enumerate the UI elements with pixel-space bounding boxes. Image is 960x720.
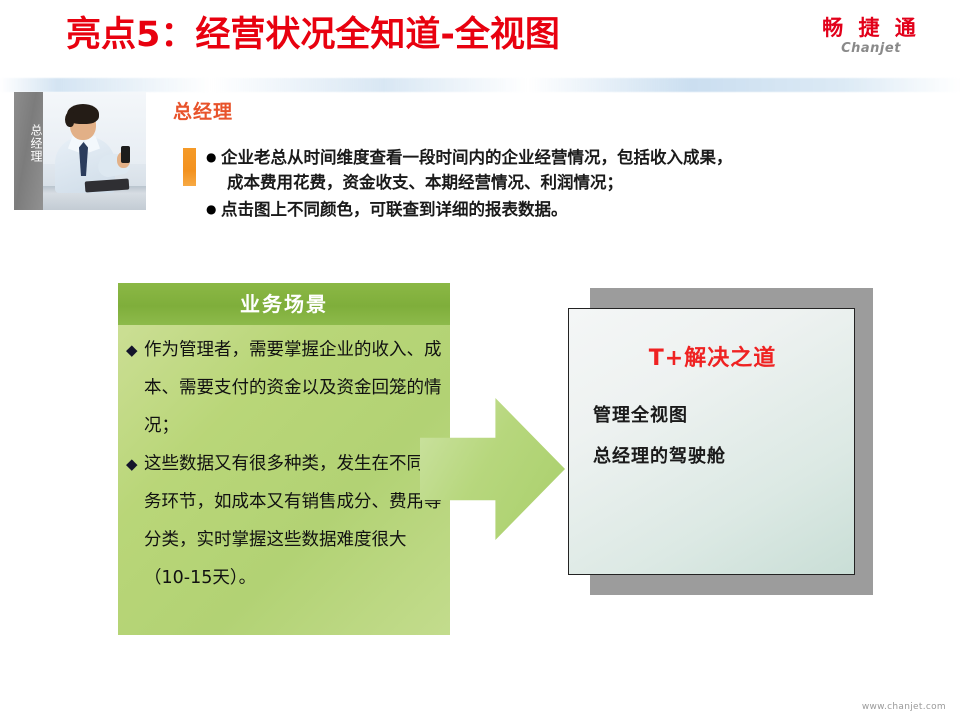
persona-role-tab-label: 总经理 (14, 108, 43, 178)
business-scenario-title: 业务场景 (118, 291, 450, 317)
logo-english-text: Chanjet (806, 41, 936, 57)
photo-hair-side (65, 112, 74, 127)
persona-photo (43, 92, 146, 210)
persona-bullet-item: 点击图上不同颜色，可联查到详细的报表数据。 (206, 197, 936, 222)
persona-block: 总经理 (14, 92, 146, 210)
persona-bullet-1-line-2: 成本费用花费，资金收支、本期经营情况、利润情况； (221, 170, 936, 195)
photo-mobile-phone (121, 146, 130, 163)
persona-heading: 总经理 (173, 100, 233, 124)
orange-accent-bar (183, 148, 196, 186)
persona-bullet-list: 企业老总从时间维度查看一段时间内的企业经营情况，包括收入成果， 成本费用花费，资… (206, 145, 936, 222)
header-divider-ribbon (0, 78, 960, 92)
business-scenario-item: 作为管理者，需要掌握企业的收入、成本、需要支付的资金以及资金回笼的情况； (126, 331, 444, 445)
page-title: 亮点5：经营状况全知道-全视图 (66, 13, 560, 57)
slide-root: 亮点5：经营状况全知道-全视图 畅 捷 通 Chanjet 总经理 总经理 (0, 0, 960, 720)
footer-website-url: www.chanjet.com (862, 702, 946, 712)
persona-role-tab: 总经理 (14, 92, 43, 210)
solution-card: T+解决之道 管理全视图 总经理的驾驶舱 (568, 308, 855, 575)
business-scenario-item: 这些数据又有很多种类，发生在不同业务环节，如成本又有销售成分、费用等分类，实时掌… (126, 445, 444, 597)
solution-card-line-2: 总经理的驾驶舱 (593, 445, 726, 469)
business-scenario-body: 作为管理者，需要掌握企业的收入、成本、需要支付的资金以及资金回笼的情况； 这些数… (126, 331, 444, 597)
persona-bullet-1-line-1: 企业老总从时间维度查看一段时间内的企业经营情况，包括收入成果， (221, 148, 733, 167)
slide-header: 亮点5：经营状况全知道-全视图 畅 捷 通 Chanjet (0, 0, 960, 86)
logo-chinese-text: 畅 捷 通 (806, 16, 936, 40)
business-scenario-card: 业务场景 作为管理者，需要掌握企业的收入、成本、需要支付的资金以及资金回笼的情况… (118, 283, 450, 635)
solution-card-line-1: 管理全视图 (593, 404, 688, 428)
brand-logo: 畅 捷 通 Chanjet (806, 16, 936, 57)
persona-bullet-item: 企业老总从时间维度查看一段时间内的企业经营情况，包括收入成果， 成本费用花费，资… (206, 145, 936, 195)
persona-bullet-2-line-1: 点击图上不同颜色，可联查到详细的报表数据。 (221, 200, 568, 219)
solution-card-title: T+解决之道 (569, 345, 856, 373)
